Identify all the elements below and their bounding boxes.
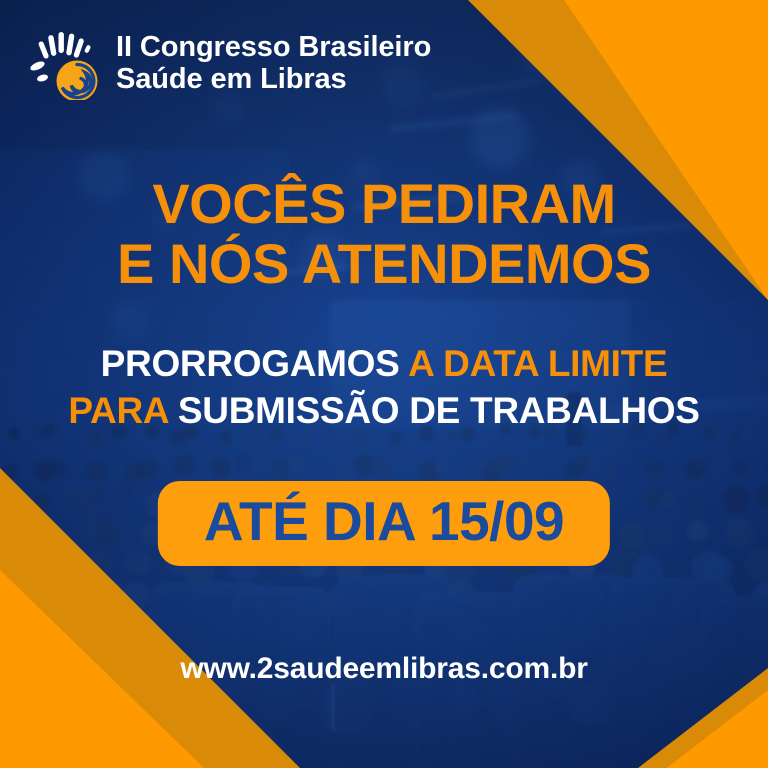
logo-line-2: Saúde em Libras bbox=[116, 63, 431, 95]
subheadline-submissao: SUBMISSÃO DE TRABALHOS bbox=[178, 390, 700, 431]
deadline-badge-text: ATÉ DIA 15/09 bbox=[204, 494, 564, 549]
event-logo-text: II Congresso Brasileiro Saúde em Libras bbox=[116, 31, 431, 96]
logo-line-1: II Congresso Brasileiro bbox=[116, 31, 431, 63]
deadline-badge: ATÉ DIA 15/09 bbox=[158, 481, 610, 566]
subheadline-line-1: PRORROGAMOS A DATA LIMITE bbox=[0, 340, 768, 387]
promotional-poster: II Congresso Brasileiro Saúde em Libras … bbox=[0, 0, 768, 768]
headline: VOCÊS PEDIRAM E NÓS ATENDEMOS bbox=[0, 174, 768, 294]
subheadline-para: PARA bbox=[68, 390, 168, 431]
subheadline: PRORROGAMOS A DATA LIMITE PARA SUBMISSÃO… bbox=[0, 340, 768, 435]
event-logo: II Congresso Brasileiro Saúde em Libras bbox=[28, 26, 431, 100]
poster-content: II Congresso Brasileiro Saúde em Libras … bbox=[0, 0, 768, 768]
headline-line-1: VOCÊS PEDIRAM bbox=[152, 172, 615, 235]
subheadline-a-data-limite: A DATA LIMITE bbox=[408, 343, 667, 384]
subheadline-line-2: PARA SUBMISSÃO DE TRABALHOS bbox=[0, 387, 768, 434]
website-url: www.2saudeemlibras.com.br bbox=[0, 652, 768, 686]
headline-line-2: E NÓS ATENDEMOS bbox=[0, 234, 768, 294]
subheadline-prorrogamos: PRORROGAMOS bbox=[101, 343, 400, 384]
hand-spiral-logo-icon bbox=[28, 26, 102, 100]
